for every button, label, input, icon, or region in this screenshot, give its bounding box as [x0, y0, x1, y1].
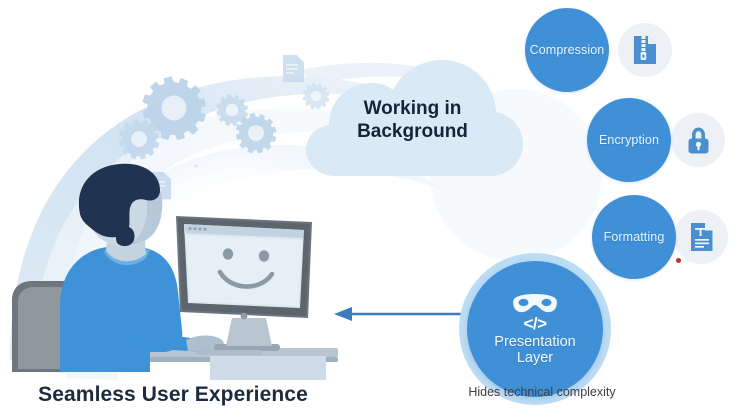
service-chip-label: Formatting: [600, 230, 669, 245]
service-chip-formatting[interactable]: Formatting: [592, 195, 676, 279]
service-chip-label: Compression: [526, 43, 609, 58]
lock-icon: [685, 126, 712, 155]
service-chip-label: Encryption: [595, 133, 663, 148]
page-title: Seamless User Experience: [38, 383, 308, 407]
code-brackets-icon: </>: [523, 315, 546, 332]
zip-file-icon: [631, 35, 659, 65]
presentation-layer-icons: </>: [512, 292, 558, 332]
service-chip-compression[interactable]: Compression: [525, 8, 609, 92]
red-dot-marker: [676, 258, 681, 263]
presentation-layer-circle[interactable]: </> Presentation Layer: [467, 261, 603, 397]
presentation-label-line2: Layer: [517, 350, 553, 366]
sub-caption: Hides technical complexity: [437, 385, 647, 399]
service-badge-compression: [618, 23, 672, 77]
carnival-mask-icon: [512, 292, 558, 314]
presentation-layer-label: Presentation Layer: [494, 334, 575, 366]
presentation-label-line1: Presentation: [494, 334, 575, 350]
service-badge-encryption: [671, 113, 725, 167]
diagram-canvas: Working in Background: [0, 0, 741, 417]
service-badge-formatting: [674, 210, 728, 264]
text-document-icon: [688, 222, 715, 252]
service-chip-encryption[interactable]: Encryption: [587, 98, 671, 182]
